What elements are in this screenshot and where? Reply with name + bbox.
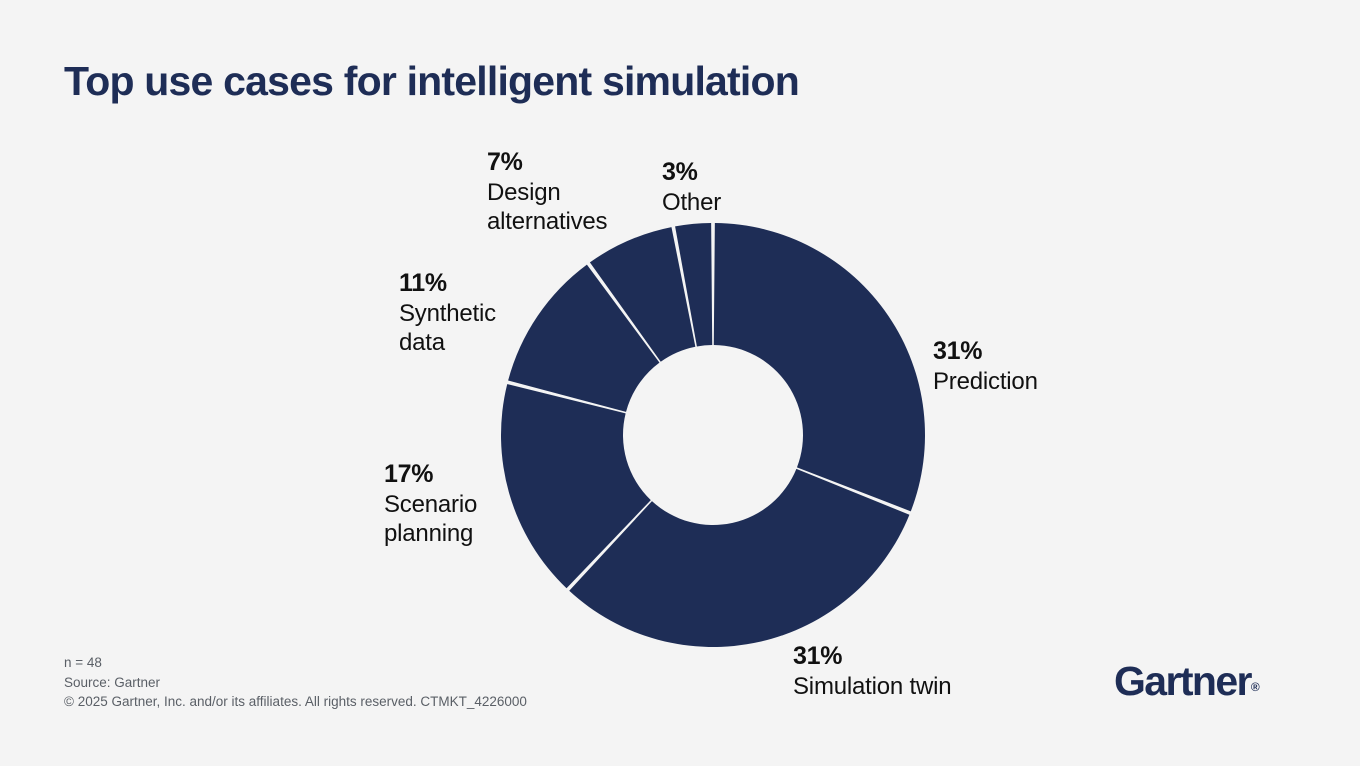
callout-synthetic-data-percent: 11%: [399, 268, 579, 299]
callout-other-percent: 3%: [662, 157, 812, 188]
callout-scenario-planning-percent: 17%: [384, 459, 564, 490]
source-note: Source: Gartner: [64, 673, 527, 693]
callout-scenario-planning: 17% Scenario planning: [384, 459, 564, 548]
callout-simulation-twin: 31% Simulation twin: [793, 641, 1053, 701]
callout-prediction-percent: 31%: [933, 336, 1163, 367]
callout-scenario-planning-label-line2: planning: [384, 519, 564, 548]
callout-design-alternatives-label-line2: alternatives: [487, 207, 687, 236]
gartner-logo: Gartner®: [1114, 659, 1304, 703]
callout-design-alternatives: 7% Design alternatives: [487, 147, 687, 236]
slide-canvas: Top use cases for intelligent simulation…: [0, 0, 1360, 766]
callout-design-alternatives-label-line1: Design: [487, 178, 687, 207]
callout-design-alternatives-percent: 7%: [487, 147, 687, 178]
callout-prediction-label: Prediction: [933, 367, 1163, 396]
callout-simulation-twin-percent: 31%: [793, 641, 1053, 672]
donut-slice-prediction: [714, 223, 925, 511]
callout-synthetic-data-label-line1: Synthetic: [399, 299, 579, 328]
callout-other-label: Other: [662, 188, 812, 217]
callout-other: 3% Other: [662, 157, 812, 217]
footnotes: n = 48 Source: Gartner © 2025 Gartner, I…: [64, 653, 527, 712]
callout-synthetic-data-label-line2: data: [399, 328, 579, 357]
gartner-wordmark: Gartner: [1114, 658, 1251, 704]
callout-prediction: 31% Prediction: [933, 336, 1163, 396]
callout-synthetic-data: 11% Synthetic data: [399, 268, 579, 357]
callout-simulation-twin-label: Simulation twin: [793, 672, 1053, 701]
copyright-note: © 2025 Gartner, Inc. and/or its affiliat…: [64, 692, 527, 712]
callout-scenario-planning-label-line1: Scenario: [384, 490, 564, 519]
registered-trademark-icon: ®: [1251, 680, 1260, 694]
sample-size-note: n = 48: [64, 653, 527, 673]
